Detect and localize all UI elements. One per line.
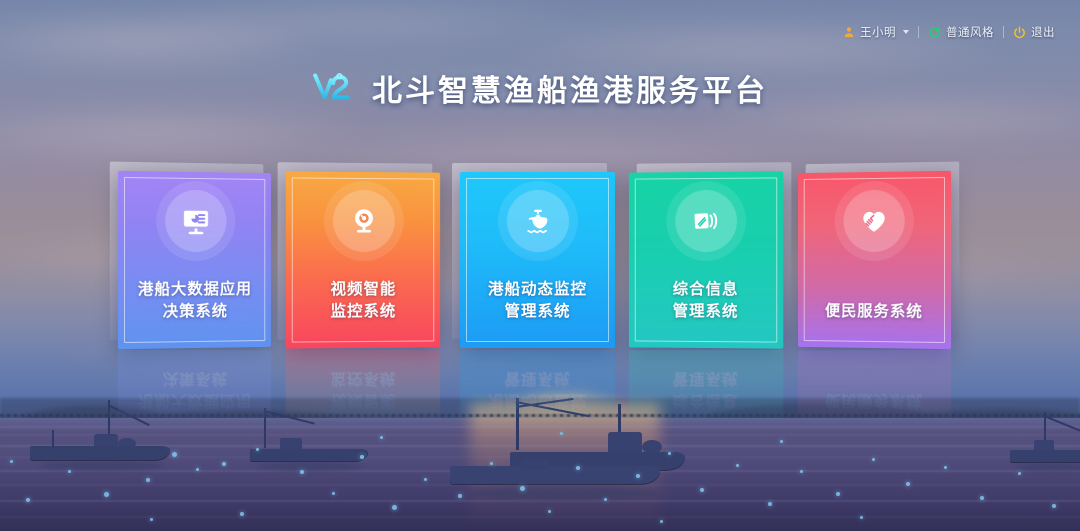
power-icon	[1013, 26, 1026, 39]
page-title: 北斗智慧渔船渔港服务平台	[372, 66, 768, 110]
user-icon	[843, 26, 855, 38]
card-icon-badge	[333, 190, 395, 252]
style-switch-label: 普通风格	[946, 24, 994, 40]
card-slot: 便民服务系统 便民服务系统	[788, 160, 958, 360]
card-slot: 视频智能 监控系统 视频智能 监控系统	[278, 160, 448, 360]
horizon-pier-line	[0, 414, 1080, 417]
heart-handshake-icon	[859, 206, 889, 236]
logout-button[interactable]: 退出	[1004, 24, 1064, 40]
user-menu[interactable]: 王小明	[834, 24, 918, 40]
card-label: 视频智能 监控系统	[331, 278, 397, 322]
platform-title-block: 北斗智慧渔船渔港服务平台	[0, 66, 1080, 110]
boat-icon	[523, 206, 553, 236]
webcam-icon	[349, 206, 379, 236]
v2-logo-icon	[312, 68, 356, 108]
cloud-wisp	[150, 6, 570, 36]
system-card-integrated-information[interactable]: 综合信息 管理系统	[629, 171, 783, 348]
chevron-down-icon	[903, 30, 909, 34]
system-card-port-ship-bigdata[interactable]: 港船大数据应用 决策系统	[118, 171, 271, 349]
system-entry-cards: 港船大数据应用 决策系统 港船大数据应用 决策系统	[0, 160, 1080, 360]
card-icon-badge	[165, 190, 226, 252]
card-slot: 综合信息 管理系统 综合信息 管理系统	[620, 160, 790, 360]
logout-label: 退出	[1031, 24, 1055, 40]
card-slot: 港船大数据应用 决策系统 港船大数据应用 决策系统	[110, 160, 280, 360]
card-slot: 港船动态监控 管理系统 港船动态监控 管理系统	[452, 160, 622, 360]
top-utility-bar: 王小明 普通风格 退出	[834, 22, 1064, 42]
style-switch-button[interactable]: 普通风格	[919, 24, 1003, 40]
card-icon-badge	[675, 190, 737, 252]
dashboard-monitor-icon	[181, 206, 211, 236]
card-label: 便民服务系统	[825, 300, 923, 323]
refresh-icon	[928, 26, 941, 39]
card-icon-badge	[507, 190, 569, 252]
card-icon-badge	[843, 190, 904, 252]
card-label: 港船动态监控 管理系统	[488, 278, 587, 322]
card-label: 港船大数据应用 决策系统	[138, 278, 252, 323]
system-card-ship-dynamic-monitor[interactable]: 港船动态监控 管理系统	[460, 172, 615, 348]
card-label: 综合信息 管理系统	[673, 278, 739, 322]
system-card-public-service[interactable]: 便民服务系统	[798, 171, 951, 349]
user-name: 王小明	[860, 24, 896, 40]
system-card-video-surveillance[interactable]: 视频智能 监控系统	[286, 171, 440, 348]
document-stack-icon	[691, 206, 721, 236]
